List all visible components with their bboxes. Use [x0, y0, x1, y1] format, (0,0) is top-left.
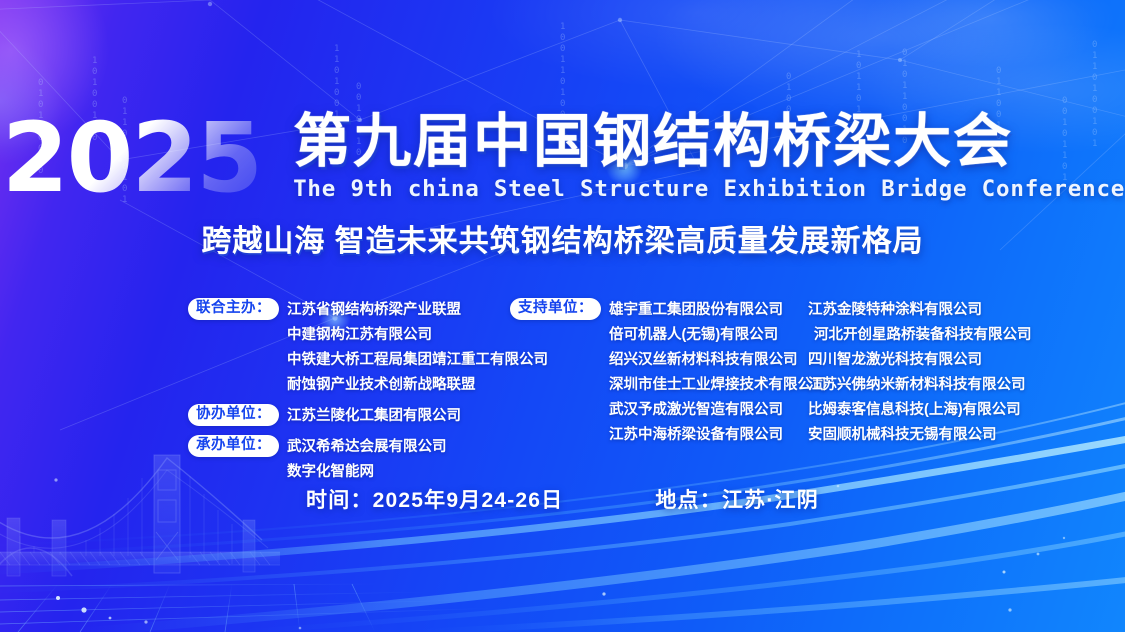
- perspective-grid: [0, 584, 500, 632]
- organizer-name: 中铁建大桥工程局集团靖江重工有限公司: [287, 348, 548, 373]
- organizer-name: 耐蚀钢产业技术创新战略联盟: [287, 373, 548, 398]
- organizer-label-badge: 联合主办：: [188, 298, 279, 320]
- organizer-group: 协办单位： 江苏兰陵化工集团有限公司: [188, 404, 510, 429]
- supporter-name: 四川智龙激光科技有限公司: [808, 348, 1038, 373]
- supporter-name: 倍可机器人(无锡)有限公司: [609, 323, 827, 348]
- supporter-name: 江苏中海桥梁设备有限公司: [609, 423, 827, 448]
- event-location: 地点：江苏·江阴: [655, 484, 819, 514]
- title-row: 2025 第九届中国钢结构桥梁大会 The 9th china Steel St…: [0, 112, 1125, 204]
- organizer-name: 武汉希希达会展有限公司: [287, 435, 447, 460]
- organizer-label-badge: 协办单位：: [188, 404, 279, 426]
- organizer-name: 江苏省钢结构桥梁产业联盟: [287, 298, 548, 323]
- organizer-name-list: 武汉希希达会展有限公司 数字化智能网: [287, 435, 447, 485]
- organizer-label-badge: 承办单位：: [188, 435, 279, 457]
- page-title: 第九届中国钢结构桥梁大会: [293, 112, 1125, 172]
- organizer-name: 中建钢构江苏有限公司: [287, 323, 548, 348]
- supporter-name-list: 雄宇重工集团股份有限公司 倍可机器人(无锡)有限公司 绍兴汉丝新材料科技有限公司…: [609, 298, 827, 448]
- binary-column: 1 0 0 1 1 0 1 0 0: [560, 22, 566, 121]
- conference-slogan: 跨越山海 智造未来共筑钢结构桥梁高质量发展新格局: [0, 216, 1125, 260]
- year-number: 2025: [0, 112, 263, 204]
- conference-banner: 0 1 0 1 1 0 0 1 0 1 0 1 0 0 1 1 0 0 1 1 …: [0, 0, 1125, 632]
- supporter-name: 江苏金陵特种涂料有限公司: [808, 298, 1038, 323]
- supporter-name: 雄宇重工集团股份有限公司: [609, 298, 827, 323]
- organizer-name-list: 江苏省钢结构桥梁产业联盟 中建钢构江苏有限公司 中铁建大桥工程局集团靖江重工有限…: [287, 298, 548, 398]
- supporter-name-list-continued: 江苏金陵特种涂料有限公司 河北开创星路桥装备科技有限公司 四川智龙激光科技有限公…: [808, 298, 1038, 448]
- event-details: 时间：2025年9月24-26日 地点：江苏·江阴: [0, 484, 1125, 514]
- supporter-name: 比姆泰客信息科技(上海)有限公司: [808, 398, 1038, 423]
- organizers-section: 联合主办： 江苏省钢结构桥梁产业联盟 中建钢构江苏有限公司 中铁建大桥工程局集团…: [0, 298, 1125, 491]
- organizer-column-2: 支持单位： 雄宇重工集团股份有限公司 倍可机器人(无锡)有限公司 绍兴汉丝新材料…: [510, 298, 808, 491]
- organizer-column-1: 联合主办： 江苏省钢结构桥梁产业联盟 中建钢构江苏有限公司 中铁建大桥工程局集团…: [188, 298, 510, 491]
- organizer-group: 联合主办： 江苏省钢结构桥梁产业联盟 中建钢构江苏有限公司 中铁建大桥工程局集团…: [188, 298, 510, 398]
- supporter-name: 绍兴汉丝新材料科技有限公司: [609, 348, 827, 373]
- supporter-name: 武汉予成激光智造有限公司: [609, 398, 827, 423]
- supporter-name: 河北开创星路桥装备科技有限公司: [808, 323, 1038, 348]
- page-subtitle-english: The 9th china Steel Structure Exhibition…: [293, 176, 1125, 202]
- organizer-group: 承办单位： 武汉希希达会展有限公司 数字化智能网: [188, 435, 510, 485]
- organizer-name: 数字化智能网: [287, 460, 447, 485]
- supporter-name: 江苏兴佛纳米新材料科技有限公司: [808, 373, 1038, 398]
- organizer-group: 支持单位： 雄宇重工集团股份有限公司 倍可机器人(无锡)有限公司 绍兴汉丝新材料…: [510, 298, 808, 448]
- supporter-name: 深圳市佳士工业焊接技术有限公司: [609, 373, 827, 398]
- organizer-name-list: 江苏兰陵化工集团有限公司: [287, 404, 461, 429]
- organizer-name: 江苏兰陵化工集团有限公司: [287, 404, 461, 429]
- organizer-column-3: 江苏金陵特种涂料有限公司 河北开创星路桥装备科技有限公司 四川智龙激光科技有限公…: [808, 298, 1038, 491]
- event-date: 时间：2025年9月24-26日: [306, 484, 563, 514]
- title-stack: 第九届中国钢结构桥梁大会 The 9th china Steel Structu…: [293, 112, 1125, 202]
- banner-header: 2025 第九届中国钢结构桥梁大会 The 9th china Steel St…: [0, 112, 1125, 260]
- supporter-label-badge: 支持单位：: [510, 298, 601, 320]
- supporter-name: 安固顺机械科技无锡有限公司: [808, 423, 1038, 448]
